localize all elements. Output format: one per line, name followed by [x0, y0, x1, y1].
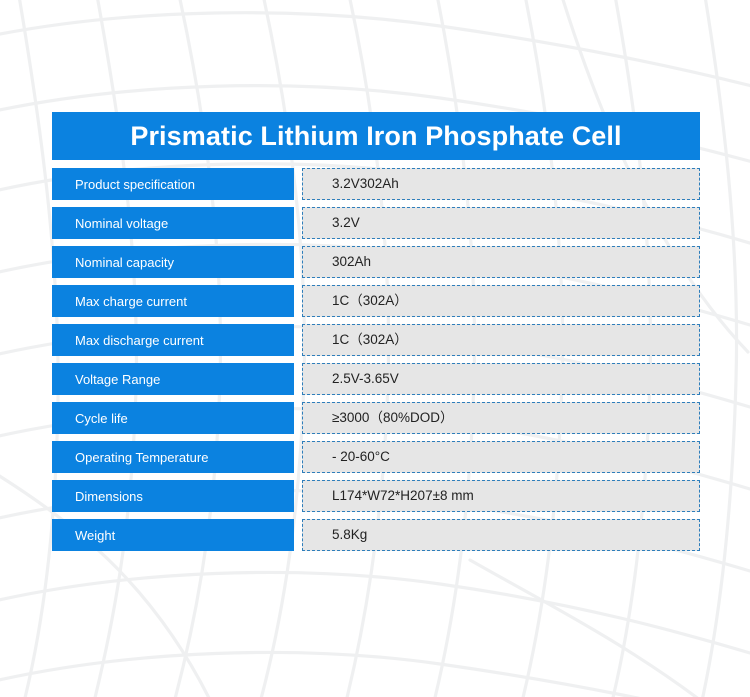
column-gap — [294, 324, 302, 356]
spec-label-nominal-capacity: Nominal capacity — [52, 246, 294, 278]
spec-label-operating-temperature: Operating Temperature — [52, 441, 294, 473]
spec-label-max-charge-current: Max charge current — [52, 285, 294, 317]
spec-label-nominal-voltage: Nominal voltage — [52, 207, 294, 239]
spec-value-product-specification: 3.2V302Ah — [302, 168, 700, 200]
column-gap — [294, 285, 302, 317]
spec-sheet: Prismatic Lithium Iron Phosphate Cell Pr… — [52, 112, 700, 551]
column-gap — [294, 168, 302, 200]
column-gap — [294, 441, 302, 473]
spec-label-weight: Weight — [52, 519, 294, 551]
table-row: Voltage Range 2.5V-3.65V — [52, 363, 700, 395]
spec-label-dimensions: Dimensions — [52, 480, 294, 512]
spec-value-dimensions: L174*W72*H207±8 mm — [302, 480, 700, 512]
spec-value-max-discharge-current: 1C（302A） — [302, 324, 700, 356]
spec-label-product-specification: Product specification — [52, 168, 294, 200]
spec-value-cycle-life: ≥3000（80%DOD） — [302, 402, 700, 434]
spec-value-nominal-capacity: 302Ah — [302, 246, 700, 278]
table-row: Weight 5.8Kg — [52, 519, 700, 551]
table-row: Dimensions L174*W72*H207±8 mm — [52, 480, 700, 512]
table-row: Product specification 3.2V302Ah — [52, 168, 700, 200]
spec-value-voltage-range: 2.5V-3.65V — [302, 363, 700, 395]
table-row: Nominal voltage 3.2V — [52, 207, 700, 239]
spec-value-operating-temperature: - 20-60°C — [302, 441, 700, 473]
table-row: Nominal capacity 302Ah — [52, 246, 700, 278]
spec-label-max-discharge-current: Max discharge current — [52, 324, 294, 356]
spec-value-weight: 5.8Kg — [302, 519, 700, 551]
spec-label-voltage-range: Voltage Range — [52, 363, 294, 395]
spec-value-nominal-voltage: 3.2V — [302, 207, 700, 239]
spec-label-cycle-life: Cycle life — [52, 402, 294, 434]
column-gap — [294, 246, 302, 278]
spec-value-max-charge-current: 1C（302A） — [302, 285, 700, 317]
column-gap — [294, 480, 302, 512]
spec-table: Product specification 3.2V302Ah Nominal … — [52, 168, 700, 551]
table-row: Max discharge current 1C（302A） — [52, 324, 700, 356]
table-row: Cycle life ≥3000（80%DOD） — [52, 402, 700, 434]
table-row: Max charge current 1C（302A） — [52, 285, 700, 317]
page-title: Prismatic Lithium Iron Phosphate Cell — [52, 112, 700, 160]
table-row: Operating Temperature - 20-60°C — [52, 441, 700, 473]
column-gap — [294, 363, 302, 395]
column-gap — [294, 402, 302, 434]
column-gap — [294, 519, 302, 551]
column-gap — [294, 207, 302, 239]
